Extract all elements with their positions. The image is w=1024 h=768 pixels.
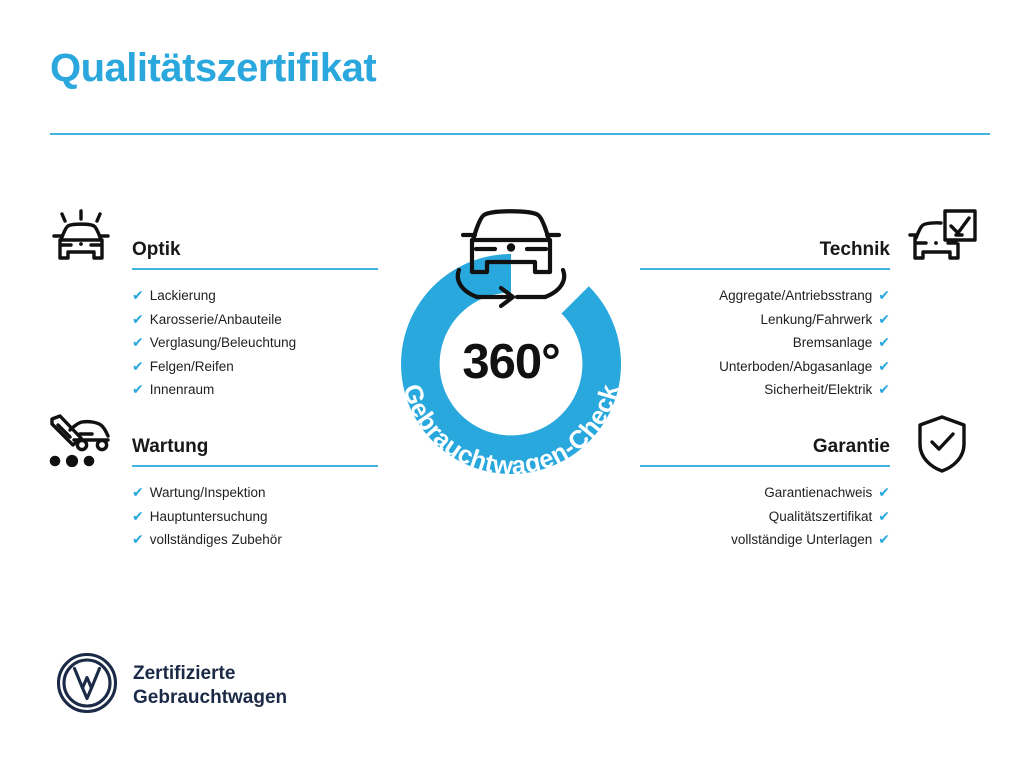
list-item: Unterboden/Abgasanlage✔ [640,355,890,379]
car-shine-icon [48,204,114,273]
section-heading-optik: Optik [132,240,378,268]
gebrauchtwagen-check-badge: Gebrauchtwagen-Check 360° [377,196,645,500]
list-item-label: Garantienachweis [764,485,872,500]
list-item-label: Hauptuntersuchung [150,509,268,524]
list-item-label: Verglasung/Beleuchtung [150,335,296,350]
list-item-label: Aggregate/Antriebsstrang [719,288,872,303]
list-item-label: Karosserie/Anbauteile [150,312,282,327]
check-icon: ✔ [132,505,144,528]
check-icon: ✔ [132,378,144,401]
check-icon: ✔ [132,481,144,504]
list-item-label: Innenraum [150,382,215,397]
volkswagen-logo-icon [56,652,118,719]
list-item: ✔Wartung/Inspektion [132,481,378,505]
car-checkbox-icon [906,208,978,275]
check-icon: ✔ [132,355,144,378]
list-item-label: vollständiges Zubehör [150,532,282,547]
page-title: Qualitätszertifikat [50,48,376,88]
check-icon: ✔ [132,331,144,354]
list-item: Garantienachweis✔ [640,481,890,505]
section-heading-garantie: Garantie [640,437,890,465]
list-item: Bremsanlage✔ [640,331,890,355]
check-icon: ✔ [878,481,890,504]
check-icon: ✔ [878,308,890,331]
list-item: Qualitätszertifikat✔ [640,505,890,529]
list-item: Lenkung/Fahrwerk✔ [640,308,890,332]
footer-logo-line1: Zertifizierte [133,662,287,686]
list-item-label: Wartung/Inspektion [150,485,266,500]
section-list-technik: Aggregate/Antriebsstrang✔ Lenkung/Fahrwe… [640,270,890,402]
footer-logo: Zertifizierte Gebrauchtwagen [56,652,287,719]
section-wartung: Wartung ✔Wartung/Inspektion ✔Hauptunters… [132,437,378,552]
list-item-label: Felgen/Reifen [150,359,234,374]
car-service-pen-icon [46,414,114,475]
footer-logo-text: Zertifizierte Gebrauchtwagen [133,662,287,710]
check-icon: ✔ [132,284,144,307]
shield-check-icon [916,414,968,479]
check-icon: ✔ [878,528,890,551]
list-item: ✔Lackierung [132,284,378,308]
title-divider [50,133,990,135]
section-list-optik: ✔Lackierung ✔Karosserie/Anbauteile ✔Verg… [132,270,378,402]
list-item-label: Lackierung [150,288,216,303]
list-item: Aggregate/Antriebsstrang✔ [640,284,890,308]
check-icon: ✔ [132,528,144,551]
section-optik: Optik ✔Lackierung ✔Karosserie/Anbauteile… [132,240,378,402]
check-icon: ✔ [878,378,890,401]
list-item: Sicherheit/Elektrik✔ [640,378,890,402]
section-garantie: Garantie Garantienachweis✔ Qualitätszert… [640,437,890,552]
list-item: ✔Innenraum [132,378,378,402]
list-item: vollständige Unterlagen✔ [640,528,890,552]
list-item: ✔Verglasung/Beleuchtung [132,331,378,355]
check-icon: ✔ [132,308,144,331]
check-icon: ✔ [878,355,890,378]
section-heading-wartung: Wartung [132,437,378,465]
section-technik: Technik Aggregate/Antriebsstrang✔ Lenkun… [640,240,890,402]
list-item: ✔Felgen/Reifen [132,355,378,379]
section-list-garantie: Garantienachweis✔ Qualitätszertifikat✔ v… [640,467,890,552]
list-item: ✔Karosserie/Anbauteile [132,308,378,332]
section-list-wartung: ✔Wartung/Inspektion ✔Hauptuntersuchung ✔… [132,467,378,552]
list-item: ✔Hauptuntersuchung [132,505,378,529]
list-item-label: Sicherheit/Elektrik [764,382,872,397]
list-item-label: Qualitätszertifikat [769,509,873,524]
check-icon: ✔ [878,284,890,307]
check-icon: ✔ [878,505,890,528]
check-icon: ✔ [878,331,890,354]
list-item-label: vollständige Unterlagen [731,532,872,547]
list-item-label: Lenkung/Fahrwerk [760,312,872,327]
footer-logo-line2: Gebrauchtwagen [133,686,287,710]
list-item: ✔vollständiges Zubehör [132,528,378,552]
badge-svg: Gebrauchtwagen-Check [377,196,645,500]
list-item-label: Unterboden/Abgasanlage [719,359,872,374]
list-item-label: Bremsanlage [793,335,873,350]
section-heading-technik: Technik [640,240,890,268]
